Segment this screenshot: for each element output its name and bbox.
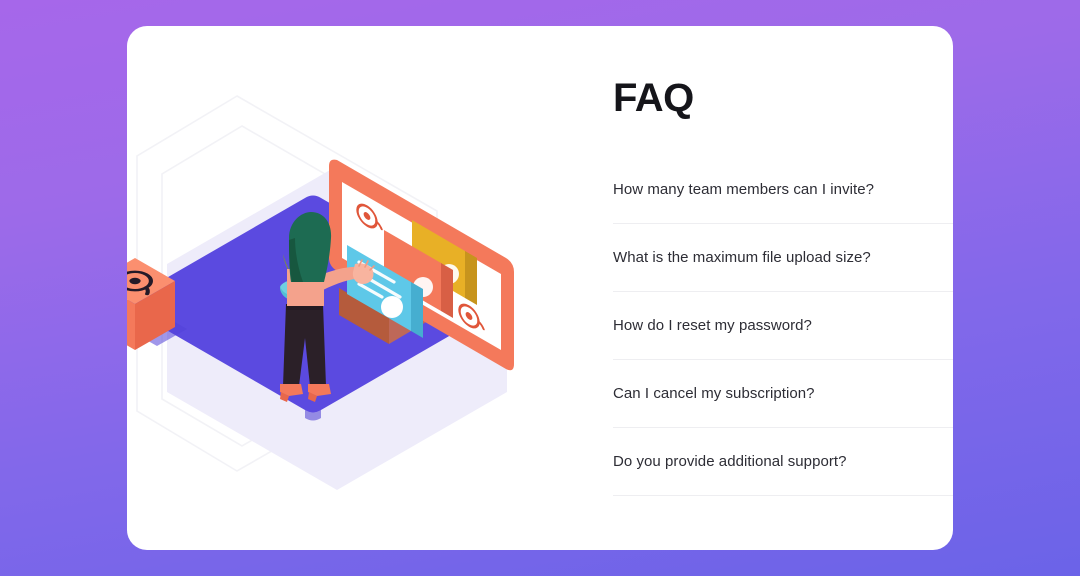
faq-item-1[interactable]: What is the maximum file upload size?	[613, 224, 953, 292]
faq-pane: FAQ How many team members can I invite? …	[527, 26, 953, 550]
illustration-pane	[127, 26, 527, 550]
faq-question-label: How do I reset my password?	[613, 316, 812, 336]
faq-question-label: What is the maximum file upload size?	[613, 248, 871, 268]
faq-item-0[interactable]: How many team members can I invite?	[613, 156, 953, 224]
faq-item-4[interactable]: Do you provide additional support?	[613, 428, 953, 496]
faq-accordion-list: How many team members can I invite? What…	[613, 156, 953, 496]
faq-card: FAQ How many team members can I invite? …	[127, 26, 953, 550]
faq-question-label: How many team members can I invite?	[613, 180, 874, 200]
faq-item-2[interactable]: How do I reset my password?	[613, 292, 953, 360]
page-title: FAQ	[613, 78, 953, 118]
faq-question-label: Do you provide additional support?	[613, 452, 847, 472]
faq-item-3[interactable]: Can I cancel my subscription?	[613, 360, 953, 428]
isometric-woman-at-monitor-illustration	[127, 26, 527, 550]
faq-question-label: Can I cancel my subscription?	[613, 384, 815, 404]
